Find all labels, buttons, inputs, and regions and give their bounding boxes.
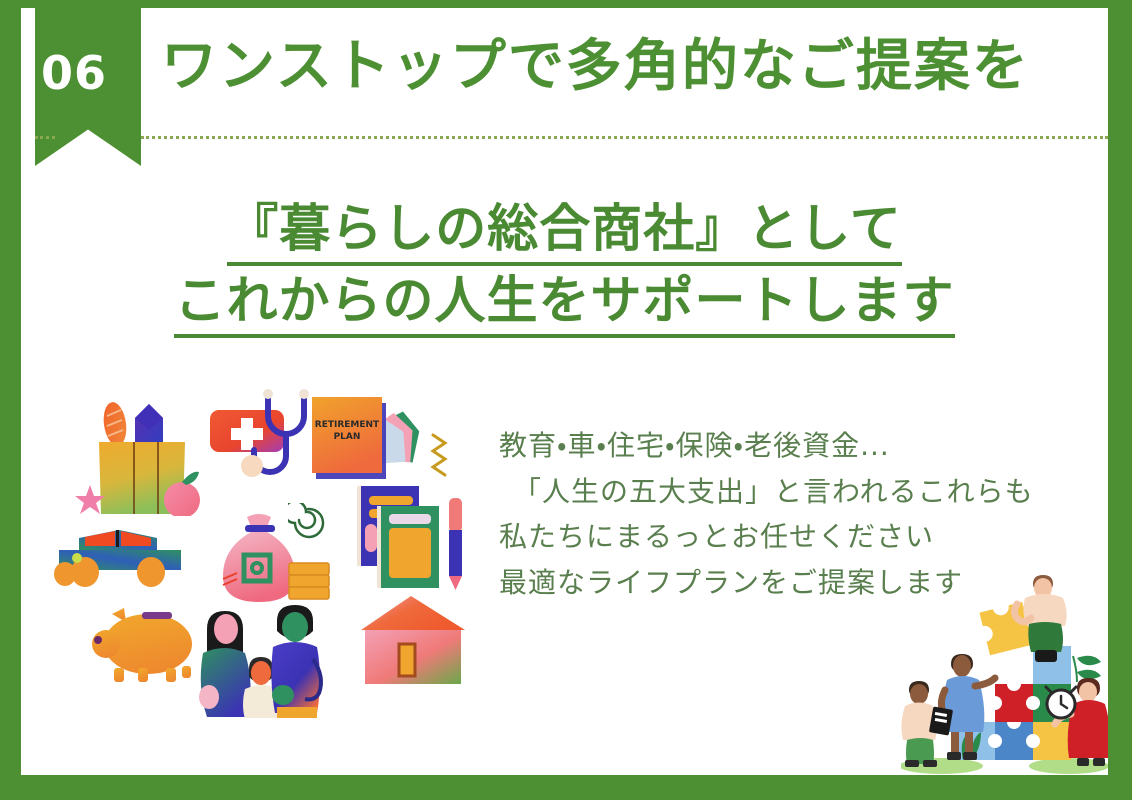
main-heading-line-2-text: これからの人生をサポートします [174, 272, 954, 338]
car-illustration [53, 516, 193, 596]
body-copy-line-3: 私たちにまるっとお任せください [499, 514, 1099, 560]
retirement-plan-label-line2: PLAN [334, 432, 361, 442]
puzzle-person-top [1014, 575, 1066, 662]
retirement-plan-folder-illustration: RETIREMENT PLAN [306, 393, 446, 488]
house-illustration [353, 588, 473, 693]
slide-canvas: 06 ワンストップで多角的なご提案を 『暮らしの総合商社』として これからの人生… [21, 8, 1108, 775]
section-number-label: 06 [21, 50, 127, 96]
people-assembling-puzzle-illustration [901, 570, 1108, 775]
main-heading-line-1-text: 『暮らしの総合商社』として [227, 200, 901, 266]
slide-header: 06 ワンストップで多角的なご提案を [21, 8, 1108, 158]
header-divider-left [35, 136, 55, 139]
body-copy-line-2: 「人生の五大支出」と言われるこれらも [499, 469, 1099, 515]
body-copy-line-1: 教育・車・住宅・保険・老後資金... [499, 423, 1099, 469]
main-heading-line-2: これからの人生をサポートします [21, 266, 1108, 338]
books-and-pen-illustration [351, 480, 471, 600]
family-of-three-illustration [193, 603, 353, 718]
main-heading-line-1: 『暮らしの総合商社』として [21, 194, 1108, 266]
squiggle-decoration [427, 433, 451, 477]
retirement-plan-label-line1: RETIREMENT [315, 420, 380, 430]
star-decoration [73, 483, 107, 517]
main-heading: 『暮らしの総合商社』として これからの人生をサポートします [21, 194, 1108, 339]
slide-frame: 06 ワンストップで多角的なご提案を 『暮らしの総合商社』として これからの人生… [0, 0, 1132, 800]
spiral-decoration [288, 503, 328, 543]
header-divider [141, 136, 1108, 139]
piggy-bank-illustration [86, 596, 206, 691]
header-title: ワンストップで多角的なご提案を [161, 38, 1101, 97]
